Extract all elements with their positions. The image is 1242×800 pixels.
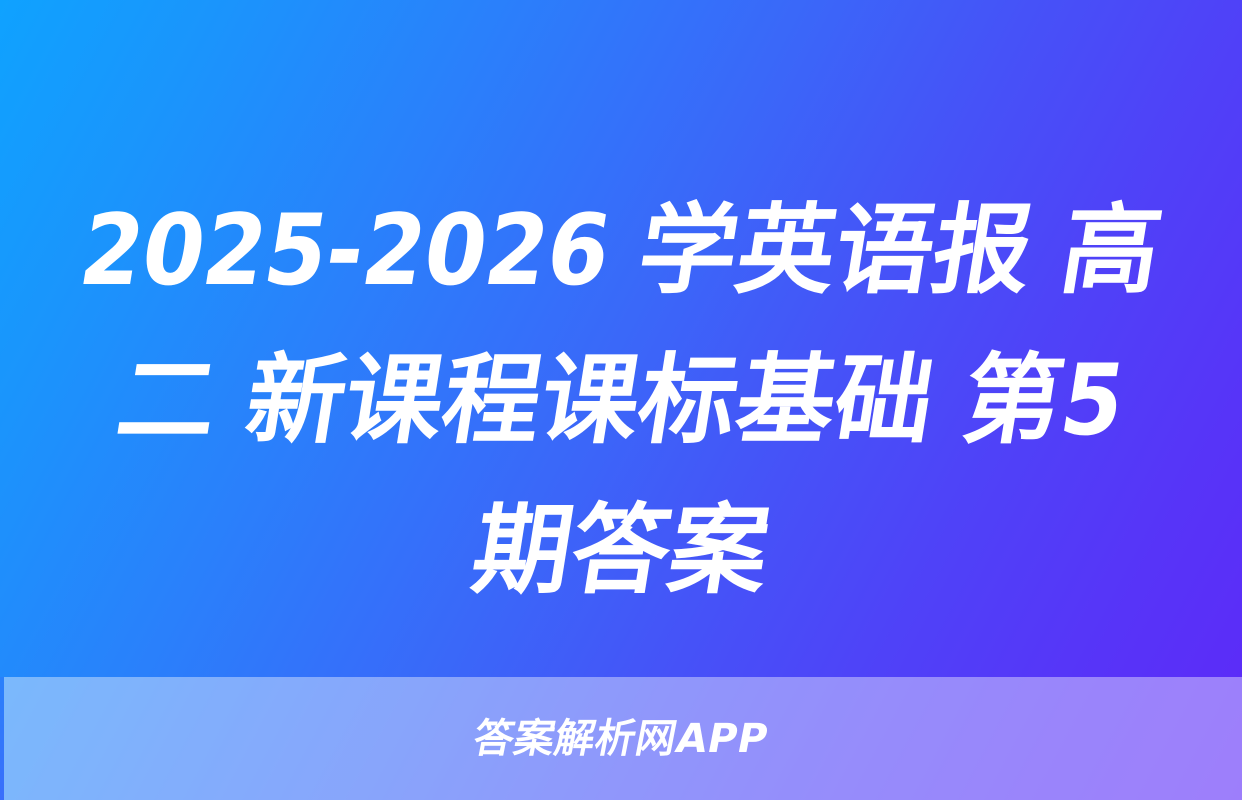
page-title-line-3: 期答案 [22, 476, 1220, 626]
watermark-bar: 答案解析网APP [0, 677, 1242, 800]
watermark-app-label: 答案解析网APP [470, 719, 771, 759]
page-title-line-1: 2025-2026 学英语报 高 [22, 176, 1220, 326]
poster-title-block: 2025-2026 学英语报 高 二 新课程课标基础 第5 期答案 [0, 176, 1242, 626]
poster-canvas: 2025-2026 学英语报 高 二 新课程课标基础 第5 期答案 答案解析网A… [0, 0, 1242, 800]
page-title-line-2: 二 新课程课标基础 第5 [22, 326, 1220, 476]
bar-edge-strip [0, 677, 4, 800]
